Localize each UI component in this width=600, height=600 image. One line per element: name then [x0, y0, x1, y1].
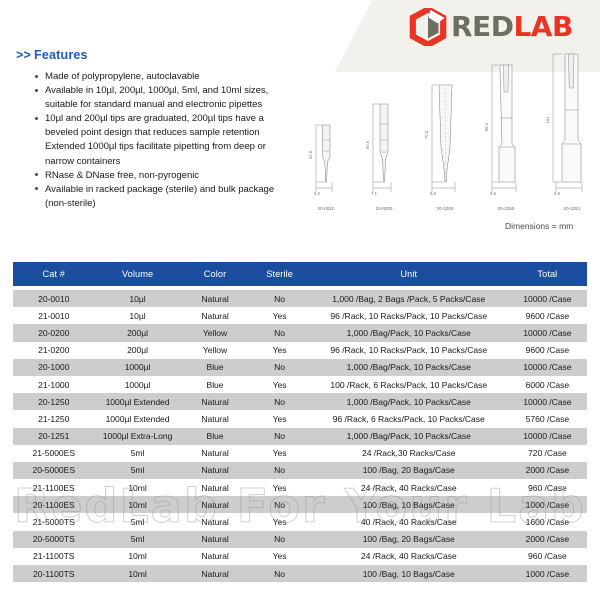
table-cell: 96 /Rack, 6 Racks/Pack, 10 Packs/Case — [310, 410, 508, 427]
table-cell: 10ml — [95, 496, 181, 513]
tip-height-label: 50.5 — [365, 140, 370, 149]
table-cell: 9600 /Case — [508, 342, 587, 359]
table-cell: 960 /Case — [508, 479, 587, 496]
table-cell: 6000 /Case — [508, 376, 587, 393]
table-cell: 720 /Case — [508, 445, 587, 462]
table-cell: 10000 /Case — [508, 428, 587, 445]
table-cell: 200µl — [95, 342, 181, 359]
table-cell: 10ml — [95, 479, 181, 496]
tip-width-label: 7.1 — [371, 191, 377, 196]
table-cell: 24 /Rack,30 Racks/Case — [310, 445, 508, 462]
table-cell: Yes — [249, 548, 309, 565]
table-cell: 2000 /Case — [508, 531, 587, 548]
table-cell: Yes — [249, 376, 309, 393]
table-cell: 10000 /Case — [508, 359, 587, 376]
feature-item-label: suitable for standard manual and electro… — [45, 99, 262, 110]
table-cell: 40 /Rack, 40 Racks/Case — [310, 513, 508, 530]
table-cell: 1,000 /Bag/Pack, 10 Packs/Case — [310, 428, 508, 445]
bullet-icon — [35, 89, 38, 92]
table-row[interactable]: 21-1100ES10mlNaturalYes24 /Rack, 40 Rack… — [13, 479, 587, 496]
logo-text-red: RED — [451, 10, 513, 43]
table-cell: Natural — [181, 513, 250, 530]
table-cell: Yes — [249, 479, 309, 496]
table-cell: 1,000 /Bag/Pack, 10 Packs/Case — [310, 324, 508, 341]
table-cell: Natural — [181, 531, 250, 548]
table-cell: 20-1100TS — [13, 565, 95, 582]
table-cell: 10ml — [95, 565, 181, 582]
table-cell: 21-1100ES — [13, 479, 95, 496]
table-row[interactable]: 21-5000ES5mlNaturalYes24 /Rack,30 Racks/… — [13, 445, 587, 462]
table-cell: 960 /Case — [508, 548, 587, 565]
table-row[interactable]: 20-0200200µlYellowNo1,000 /Bag/Pack, 10 … — [13, 324, 587, 341]
table-cell: 20-1100ES — [13, 496, 95, 513]
table-cell: 10000 /Case — [508, 393, 587, 410]
table-row[interactable]: 20-10001000µlBlueNo1,000 /Bag/Pack, 10 P… — [13, 359, 587, 376]
redlab-logo: REDLAB — [409, 8, 573, 46]
column-header[interactable]: Total — [508, 262, 587, 286]
table-cell: 1600 /Case — [508, 513, 587, 530]
table-cell: 100 /Bag, 20 Bags/Case — [310, 462, 508, 479]
bullet-icon — [35, 75, 38, 78]
table-cell: 20-0010 — [13, 290, 95, 307]
table-cell: 10000 /Case — [508, 290, 587, 307]
table-cell: Natural — [181, 307, 250, 324]
table-cell: 1000µl Extra-Long — [95, 428, 181, 445]
table-row[interactable]: 20-12511000µl Extra-LongBlueNo1,000 /Bag… — [13, 428, 587, 445]
table-cell: 24 /Rack, 40 Racks/Case — [310, 548, 508, 565]
table-cell: 20-1000 — [13, 359, 95, 376]
tip-height-label: 88.4 — [484, 122, 489, 131]
product-table-body: 20-001010µlNaturalNo1,000 /Bag, 2 Bags /… — [13, 286, 587, 582]
table-cell: No — [249, 359, 309, 376]
table-cell: 10000 /Case — [508, 324, 587, 341]
table-cell: No — [249, 565, 309, 582]
table-row[interactable]: 21-001010µlNaturalYes96 /Rack, 10 Racks/… — [13, 307, 587, 324]
feature-item: beveled point design that reduces sample… — [34, 126, 306, 139]
table-cell: 21-0010 — [13, 307, 95, 324]
tip-catalog-label: 20-1250 — [498, 206, 515, 211]
table-cell: Yes — [249, 513, 309, 530]
table-row[interactable]: 20-12501000µl ExtendedNaturalNo1,000 /Ba… — [13, 393, 587, 410]
bullet-icon — [35, 117, 38, 120]
feature-item-label: Available in racked package (sterile) an… — [45, 184, 274, 195]
column-header[interactable]: Sterile — [249, 262, 309, 286]
feature-item: Extended 1000µl tips facilitate pipettin… — [34, 140, 306, 153]
feature-item-label: Extended 1000µl tips facilitate pipettin… — [45, 141, 266, 152]
table-row[interactable]: 21-10001000µlBlueYes100 /Rack, 6 Racks/P… — [13, 376, 587, 393]
table-cell: 1,000 /Bag/Pack, 10 Packs/Case — [310, 359, 508, 376]
feature-item-label: Made of polypropylene, autoclavable — [45, 71, 200, 82]
table-row[interactable]: 21-5000TS5mlNaturalYes40 /Rack, 40 Racks… — [13, 513, 587, 530]
table-cell: 10µl — [95, 307, 181, 324]
tip-catalog-label: 20-1251 — [564, 206, 581, 211]
feature-item: Available in racked package (sterile) an… — [34, 183, 306, 196]
feature-item: Available in 10µl, 200µl, 1000µl, 5ml, a… — [34, 84, 306, 97]
table-cell: Natural — [181, 548, 250, 565]
table-cell: 21-1100TS — [13, 548, 95, 565]
table-cell: 5760 /Case — [508, 410, 587, 427]
feature-item: suitable for standard manual and electro… — [34, 98, 306, 111]
tip-shape-20-0010 — [323, 125, 331, 182]
table-row[interactable]: 21-0200200µlYellowYes96 /Rack, 10 Racks/… — [13, 342, 587, 359]
table-cell: 5ml — [95, 513, 181, 530]
table-cell: 100 /Bag, 20 Bags/Case — [310, 531, 508, 548]
product-table: Cat #VolumeColorSterileUnitTotal 20-0010… — [13, 262, 587, 582]
column-header[interactable]: Unit — [310, 262, 508, 286]
table-cell: 2000 /Case — [508, 462, 587, 479]
feature-item: RNase & DNase free, non-pyrogenic — [34, 169, 306, 182]
table-row[interactable]: 20-001010µlNaturalNo1,000 /Bag, 2 Bags /… — [13, 290, 587, 307]
feature-item: narrow containers — [34, 155, 306, 168]
table-cell: Yes — [249, 342, 309, 359]
table-cell: Natural — [181, 479, 250, 496]
table-cell: 20-0200 — [13, 324, 95, 341]
features-list: Made of polypropylene, autoclavableAvail… — [34, 70, 306, 211]
table-cell: 96 /Rack, 10 Racks/Pack, 10 Packs/Case — [310, 342, 508, 359]
table-row[interactable]: 20-5000TS5mlNaturalNo100 /Bag, 20 Bags/C… — [13, 531, 587, 548]
table-cell: 1000µl Extended — [95, 410, 181, 427]
table-cell: Blue — [181, 359, 250, 376]
table-cell: 9600 /Case — [508, 307, 587, 324]
table-cell: 5ml — [95, 462, 181, 479]
table-cell: 100 /Rack, 6 Racks/Pack, 10 Packs/Case — [310, 376, 508, 393]
dimensions-unit-note: Dimensions = mm — [505, 221, 573, 231]
table-cell: Natural — [181, 496, 250, 513]
feature-item: 10µl and 200µl tips are graduated, 200µl… — [34, 112, 306, 125]
table-cell: No — [249, 462, 309, 479]
table-cell: 1000µl — [95, 376, 181, 393]
features-heading-label: Features — [34, 48, 88, 62]
tip-height-label: 31.8 — [308, 150, 313, 159]
table-cell: 5ml — [95, 531, 181, 548]
tip-height-label: 70.0 — [424, 130, 429, 139]
table-cell: Natural — [181, 393, 250, 410]
tip-height-label: 101 — [545, 116, 550, 124]
feature-item: Made of polypropylene, autoclavable — [34, 70, 306, 83]
table-cell: 100 /Bag, 10 Bags/Case — [310, 565, 508, 582]
table-cell: 20-1251 — [13, 428, 95, 445]
table-cell: 21-5000TS — [13, 513, 95, 530]
product-datasheet-page: REDLAB >>Features Made of polypropylene,… — [0, 0, 600, 600]
table-cell: 1,000 /Bag/Pack, 10 Packs/Case — [310, 393, 508, 410]
feature-item-label: RNase & DNase free, non-pyrogenic — [45, 170, 199, 181]
table-cell: Blue — [181, 376, 250, 393]
table-cell: 24 /Rack, 40 Racks/Case — [310, 479, 508, 496]
table-row[interactable]: 20-1100ES10mlNaturalNo100 /Bag, 10 Bags/… — [13, 496, 587, 513]
tip-width-label: 8.8 — [554, 191, 560, 196]
column-header[interactable]: Cat # — [13, 262, 95, 286]
table-cell: Yellow — [181, 324, 250, 341]
table-cell: 1000 /Case — [508, 565, 587, 582]
feature-item: (non-sterile) — [34, 197, 306, 210]
table-row[interactable]: 21-1100TS10mlNaturalYes24 /Rack, 40 Rack… — [13, 548, 587, 565]
table-cell: 10µl — [95, 290, 181, 307]
table-cell: Yellow — [181, 342, 250, 359]
table-cell: Yes — [249, 307, 309, 324]
table-cell: 20-5000TS — [13, 531, 95, 548]
table-cell: No — [249, 290, 309, 307]
tip-catalog-label: 20-0010 — [318, 206, 335, 211]
table-cell: Natural — [181, 445, 250, 462]
tip-shape-20-1250 — [499, 65, 515, 182]
tip-width-label: 8.6 — [490, 191, 496, 196]
table-cell: No — [249, 428, 309, 445]
tip-catalog-label: 20-0200 — [376, 206, 393, 211]
table-cell: 21-1000 — [13, 376, 95, 393]
feature-item-label: (non-sterile) — [45, 198, 96, 209]
table-cell: No — [249, 531, 309, 548]
feature-item-label: narrow containers — [45, 156, 120, 167]
product-table-wrapper: Cat #VolumeColorSterileUnitTotal 20-0010… — [13, 262, 587, 582]
table-cell: 5ml — [95, 445, 181, 462]
column-header[interactable]: Volume — [95, 262, 181, 286]
table-cell: 96 /Rack, 10 Racks/Pack, 10 Packs/Case — [310, 307, 508, 324]
table-cell: 100 /Bag, 10 Bags/Case — [310, 496, 508, 513]
column-header[interactable]: Color — [181, 262, 250, 286]
table-cell: Natural — [181, 565, 250, 582]
bullet-icon — [35, 187, 38, 190]
tip-width-label: 6.0 — [314, 191, 320, 196]
pipette-tip-dimension-diagram: 31.8 50.5 70.0 88.4 101 6.0 7.1 9.6 8.6 … — [300, 52, 600, 232]
table-cell: Natural — [181, 410, 250, 427]
table-cell: Yes — [249, 410, 309, 427]
table-row[interactable]: 20-1100TS10mlNaturalNo100 /Bag, 10 Bags/… — [13, 565, 587, 582]
table-cell: No — [249, 324, 309, 341]
feature-item-label: beveled point design that reduces sample… — [45, 127, 260, 138]
logo-text-lab: LAB — [513, 10, 572, 43]
tip-width-label: 9.6 — [430, 191, 436, 196]
table-cell: No — [249, 496, 309, 513]
feature-item-label: 10µl and 200µl tips are graduated, 200µl… — [45, 113, 264, 124]
bullet-icon — [35, 173, 38, 176]
tip-shape-20-1000 — [439, 85, 452, 182]
table-cell: 20-1250 — [13, 393, 95, 410]
table-row[interactable]: 20-5000ES5mlNaturalNo100 /Bag, 20 Bags/C… — [13, 462, 587, 479]
table-cell: 1,000 /Bag, 2 Bags /Pack, 5 Packs/Case — [310, 290, 508, 307]
table-cell: Natural — [181, 462, 250, 479]
table-cell: 1000 /Case — [508, 496, 587, 513]
table-cell: 1000µl Extended — [95, 393, 181, 410]
table-cell: No — [249, 393, 309, 410]
table-cell: 21-0200 — [13, 342, 95, 359]
table-cell: Yes — [249, 445, 309, 462]
table-cell: Natural — [181, 290, 250, 307]
tip-shape-20-0200 — [380, 104, 388, 182]
table-header-row: Cat #VolumeColorSterileUnitTotal — [13, 262, 587, 286]
table-cell: 21-1250 — [13, 410, 95, 427]
product-table-header: Cat #VolumeColorSterileUnitTotal — [13, 262, 587, 286]
table-cell: Blue — [181, 428, 250, 445]
table-cell: 10ml — [95, 548, 181, 565]
hexagon-logo-icon — [409, 8, 447, 46]
features-heading: >>Features — [16, 48, 88, 62]
tip-shape-20-1251 — [562, 54, 581, 182]
table-cell: 20-5000ES — [13, 462, 95, 479]
table-cell: 1000µl — [95, 359, 181, 376]
feature-item-label: Available in 10µl, 200µl, 1000µl, 5ml, a… — [45, 85, 268, 96]
chevron-right-icon: >> — [16, 48, 31, 62]
table-row[interactable]: 21-12501000µl ExtendedNaturalYes96 /Rack… — [13, 410, 587, 427]
table-cell: 21-5000ES — [13, 445, 95, 462]
table-cell: 200µl — [95, 324, 181, 341]
tip-catalog-label: 20-1000 — [437, 206, 454, 211]
